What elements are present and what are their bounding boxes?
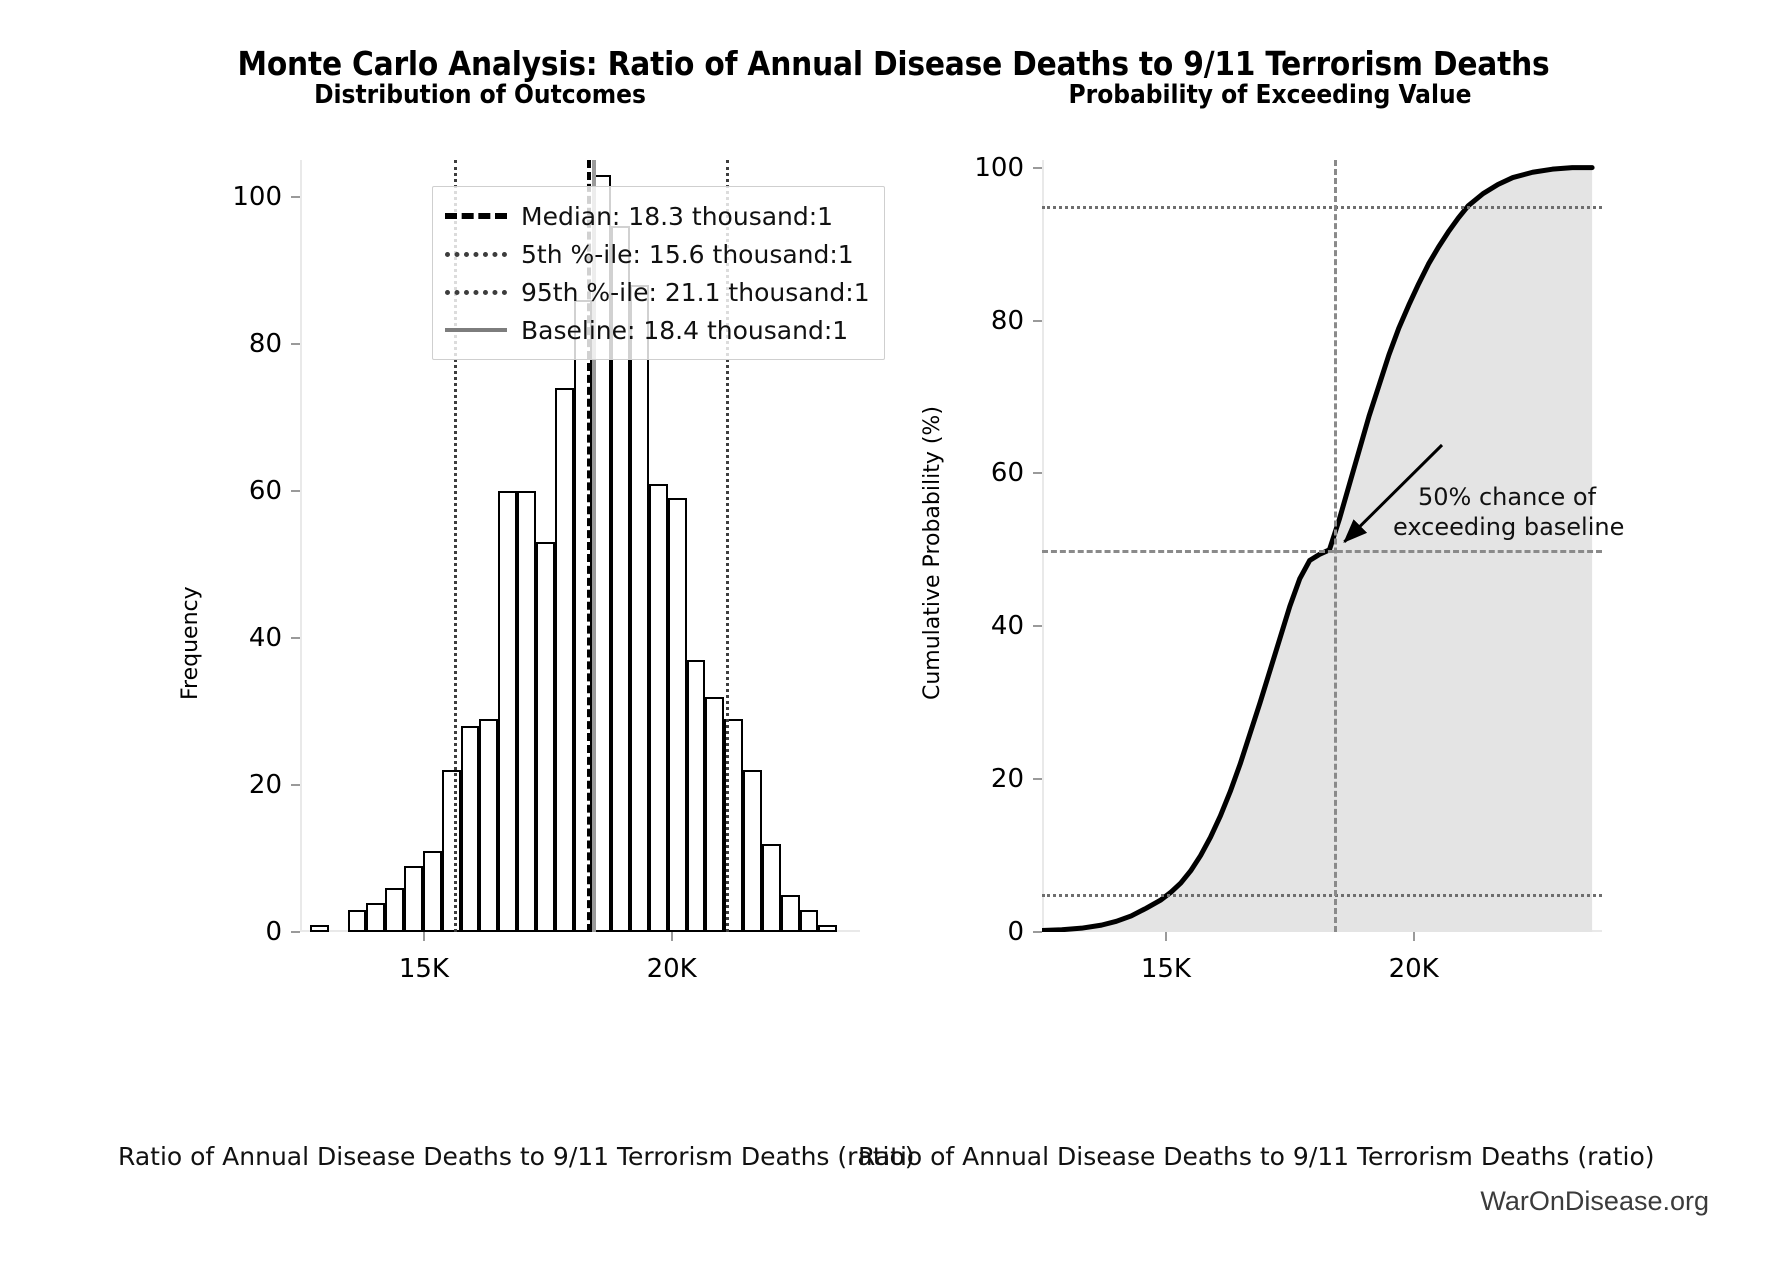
histogram-bar <box>442 770 461 932</box>
histogram-bar <box>649 484 668 932</box>
histogram-bar <box>687 660 706 932</box>
histogram-bar <box>461 726 480 932</box>
right-x-tick-mark <box>1413 932 1415 941</box>
cdf-annotation-line1: 50% chance of <box>1418 482 1596 513</box>
right-y-tick-mark <box>1033 931 1042 933</box>
right-x-axis-label: Ratio of Annual Disease Deaths to 9/11 T… <box>858 1142 1655 1171</box>
figure-canvas: Monte Carlo Analysis: Ratio of Annual Di… <box>0 0 1787 1280</box>
dotted-line-swatch-icon <box>445 290 507 295</box>
histogram-bar <box>818 925 837 932</box>
right-x-tick-mark <box>1165 932 1167 941</box>
dotted-line-swatch-icon <box>445 252 507 257</box>
left-x-axis-label: Ratio of Annual Disease Deaths to 9/11 T… <box>118 1142 915 1171</box>
legend-label-baseline: Baseline: 18.4 thousand:1 <box>521 316 848 345</box>
right-panel-title: Probability of Exceeding Value <box>920 80 1620 110</box>
right-y-axis-label: Cumulative Probability (%) <box>920 406 945 700</box>
histogram-bar <box>498 491 517 932</box>
cdf-p95-line <box>1042 206 1602 209</box>
right-y-tick-mark <box>1033 625 1042 627</box>
left-y-tick-mark <box>291 931 300 933</box>
left-x-tick-mark <box>423 932 425 941</box>
dashed-line-swatch-icon <box>445 213 507 219</box>
histogram-bar <box>517 491 536 932</box>
legend-row-median: Median: 18.3 thousand:1 <box>445 197 870 235</box>
histogram-bar <box>310 925 329 932</box>
right-y-tick-mark <box>1033 778 1042 780</box>
left-panel-title: Distribution of Outcomes <box>160 80 800 110</box>
legend-row-p95: 95th %-ile: 21.1 thousand:1 <box>445 273 870 311</box>
right-y-tick-mark <box>1033 320 1042 322</box>
cdf-median-line <box>1042 550 1602 553</box>
left-y-tick-label: 100 <box>232 182 300 212</box>
left-y-tick-mark <box>291 343 300 345</box>
cdf-annotation-line2: exceeding baseline <box>1393 512 1624 543</box>
histogram-bar <box>743 770 762 932</box>
histogram-bar <box>630 285 649 932</box>
left-y-tick-mark <box>291 490 300 492</box>
histogram-bar <box>536 542 555 932</box>
histogram-bar <box>348 910 367 932</box>
histogram-bar <box>385 888 404 932</box>
histogram-legend: Median: 18.3 thousand:1 5th %-ile: 15.6 … <box>432 186 885 360</box>
histogram-bar <box>705 697 724 932</box>
solid-line-swatch-icon <box>445 328 507 332</box>
cdf-p5-line <box>1042 894 1602 897</box>
histogram-bar <box>479 719 498 932</box>
legend-label-p95: 95th %-ile: 21.1 thousand:1 <box>521 278 870 307</box>
cdf-axes: 020406080100 15K20K <box>1042 160 1602 932</box>
cdf-baseline-line <box>1334 160 1337 932</box>
legend-row-baseline: Baseline: 18.4 thousand:1 <box>445 311 870 349</box>
histogram-bar <box>366 903 385 932</box>
histogram-bar <box>800 910 819 932</box>
histogram-bar <box>404 866 423 932</box>
histogram-bar <box>423 851 442 932</box>
histogram-bar <box>668 498 687 932</box>
left-x-tick-mark <box>671 932 673 941</box>
left-y-axis-label: Frequency <box>178 586 203 700</box>
left-y-tick-mark <box>291 784 300 786</box>
histogram-bar <box>555 388 574 932</box>
cdf-curve <box>1042 160 1602 932</box>
legend-label-median: Median: 18.3 thousand:1 <box>521 202 833 231</box>
figure-suptitle: Monte Carlo Analysis: Ratio of Annual Di… <box>0 44 1787 83</box>
left-y-tick-mark <box>291 637 300 639</box>
right-y-tick-label: 100 <box>974 153 1042 183</box>
histogram-bar <box>762 844 781 932</box>
site-footer: WarOnDisease.org <box>1480 1186 1709 1217</box>
right-y-tick-mark <box>1033 472 1042 474</box>
legend-row-p5: 5th %-ile: 15.6 thousand:1 <box>445 235 870 273</box>
right-y-tick-mark <box>1033 167 1042 169</box>
left-y-tick-mark <box>291 196 300 198</box>
legend-label-p5: 5th %-ile: 15.6 thousand:1 <box>521 240 854 269</box>
histogram-bar <box>781 895 800 932</box>
left-y-spine <box>300 160 302 932</box>
